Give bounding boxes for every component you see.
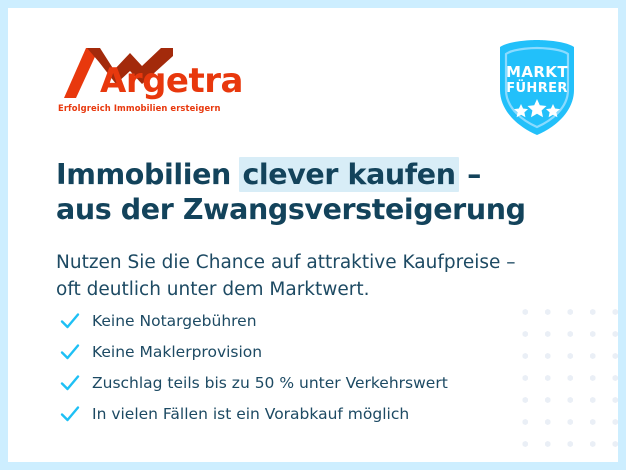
page-title: Immobilien clever kaufen – aus der Zwang… [56,157,526,227]
headline-line1-post: – [458,158,481,191]
list-item: Keine Maklerprovision [59,336,448,367]
check-icon [59,403,81,425]
check-icon [59,310,81,332]
subtitle-line2: oft deutlich unter dem Marktwert. [56,276,516,303]
check-icon [59,372,81,394]
promo-banner: Argetra Erfolgreich Immobilien ersteiger… [0,0,626,470]
headline-line2: aus der Zwangsversteigerung [56,192,526,227]
banner-card: Argetra Erfolgreich Immobilien ersteiger… [8,8,618,462]
feature-label: In vielen Fällen ist ein Vorabkauf mögli… [92,405,409,423]
headline-highlight: clever kaufen [239,157,458,192]
dot-grid-pattern [508,295,618,462]
list-item: In vielen Fällen ist ein Vorabkauf mögli… [59,398,448,429]
check-icon [59,341,81,363]
badge-line-2: FÜHRER [492,82,582,95]
badge-line-1: MARKT [492,65,582,80]
argetra-logo: Argetra Erfolgreich Immobilien ersteiger… [56,46,256,122]
logo-wordmark: Argetra [100,64,243,98]
logo-tagline: Erfolgreich Immobilien ersteigern [58,103,221,113]
feature-label: Keine Maklerprovision [92,343,262,361]
market-leader-badge: MARKT FÜHRER [492,38,582,138]
feature-label: Keine Notargebühren [92,312,257,330]
list-item: Keine Notargebühren [59,305,448,336]
feature-label: Zuschlag teils bis zu 50 % unter Verkehr… [92,374,448,392]
subtitle: Nutzen Sie die Chance auf attraktive Kau… [56,249,516,303]
subtitle-line1: Nutzen Sie die Chance auf attraktive Kau… [56,252,516,273]
feature-list: Keine Notargebühren Keine Maklerprovisio… [59,305,448,429]
list-item: Zuschlag teils bis zu 50 % unter Verkehr… [59,367,448,398]
headline-line1-pre: Immobilien [56,158,240,191]
